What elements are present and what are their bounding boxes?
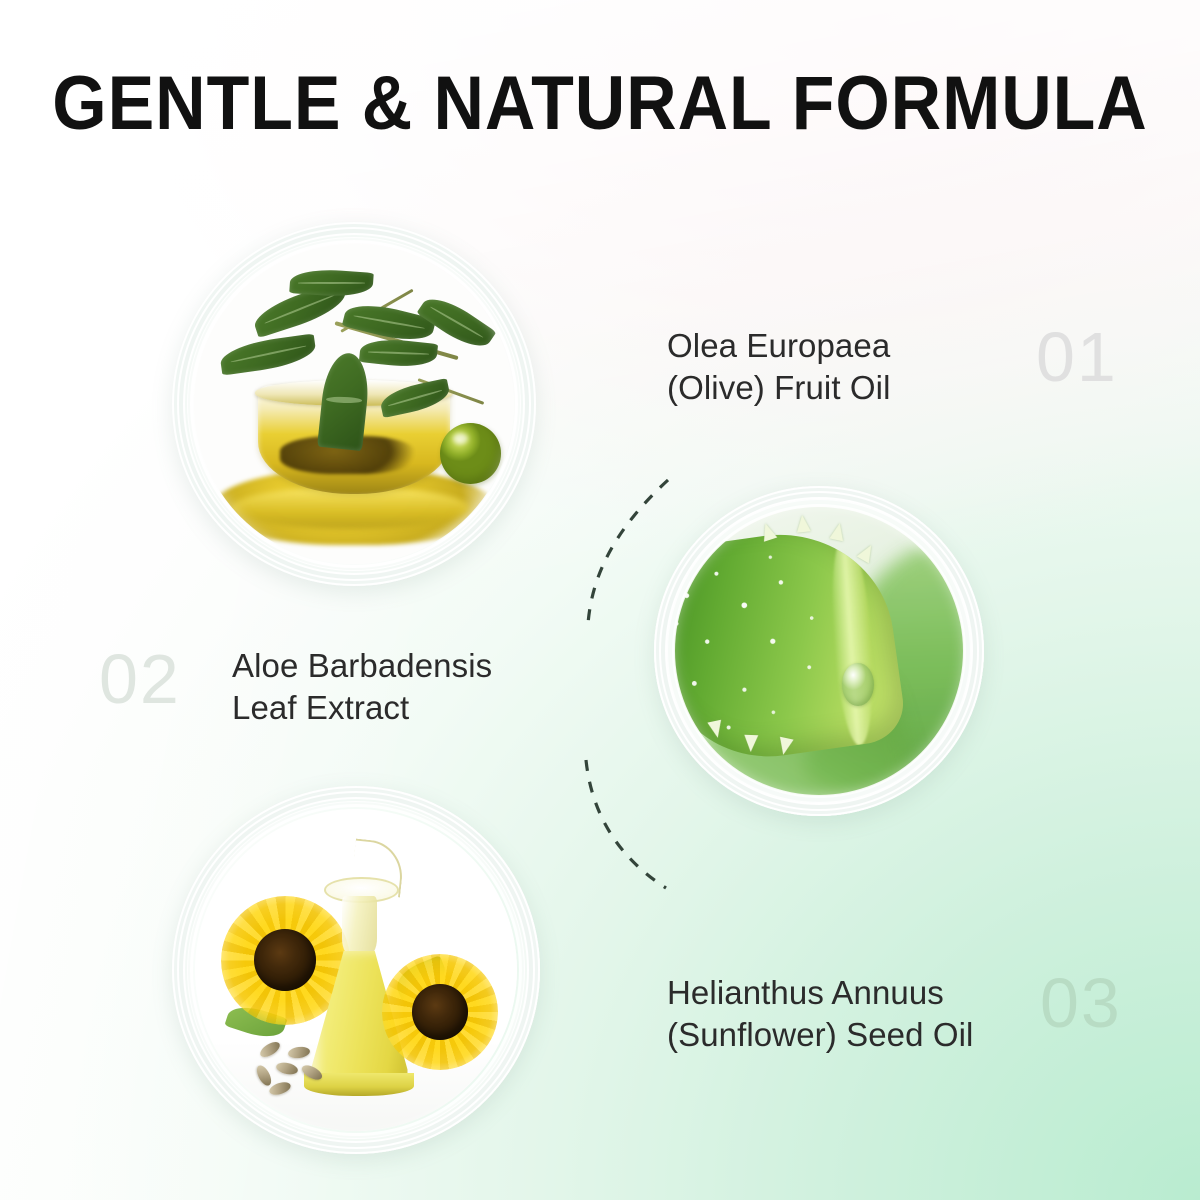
- ingredient-image-sunflower[interactable]: [172, 786, 540, 1154]
- ingredient-label-sunflower: Helianthus Annuus (Sunflower) Seed Oil: [667, 972, 973, 1056]
- ingredient-number-02: 02: [99, 644, 181, 714]
- ingredient-label-aloe: Aloe Barbadensis Leaf Extract: [232, 645, 492, 729]
- infographic-canvas: GENTLE & NATURAL FORMULA: [0, 0, 1200, 1200]
- ingredient-image-aloe[interactable]: [654, 486, 984, 816]
- sunflower-oil-photo: [195, 809, 517, 1131]
- ingredient-number-01: 01: [1036, 322, 1118, 392]
- olive-oil-bowl-photo: [194, 244, 514, 564]
- ingredient-image-olive[interactable]: [172, 222, 536, 586]
- ingredient-label-olive: Olea Europaea (Olive) Fruit Oil: [667, 325, 891, 409]
- aloe-leaf-photo: [674, 506, 964, 796]
- ingredient-number-03: 03: [1040, 968, 1122, 1038]
- page-title: GENTLE & NATURAL FORMULA: [48, 66, 1152, 142]
